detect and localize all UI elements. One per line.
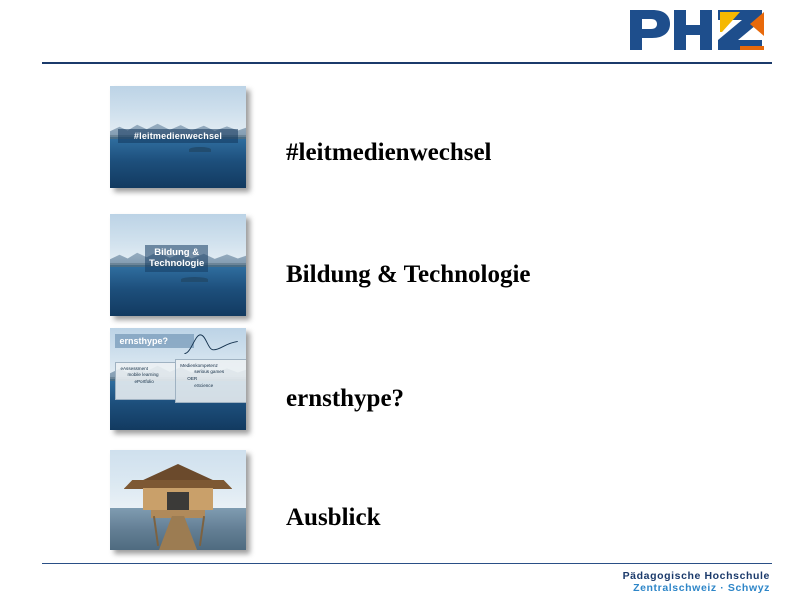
diagram-item: Medienkompetenz	[178, 363, 243, 370]
diagram-item: OER	[178, 376, 243, 383]
footer-divider	[42, 563, 772, 564]
agenda-row-bildung-technologie: Bildung & Technologie Bildung & Technolo…	[110, 214, 531, 316]
thumbnail-leitmedienwechsel: #leitmedienwechsel	[110, 86, 246, 188]
lake-water	[110, 267, 246, 316]
thumbnail-caption-line2: Technologie	[149, 258, 204, 269]
diagram-item: ePortfolio	[118, 379, 172, 386]
diagram-item: eScience	[178, 383, 243, 390]
agenda-label-ernsthype: ernsthype?	[286, 385, 404, 413]
agenda-row-leitmedienwechsel: #leitmedienwechsel #leitmedienwechsel	[110, 86, 492, 188]
thumbnail-caption: Bildung & Technologie	[145, 245, 208, 273]
agenda-label-ausblick: Ausblick	[286, 504, 380, 532]
phz-logo	[622, 6, 772, 54]
diagram-item: mobile learning	[118, 372, 172, 379]
phz-logo-svg	[622, 6, 772, 54]
thumbnail-bildung-technologie: Bildung & Technologie	[110, 214, 246, 316]
diagram-box-left: eAssessment mobile learning ePortfolio	[115, 362, 175, 401]
lake-water	[110, 139, 246, 188]
thumbnail-caption: ernsthype?	[115, 334, 194, 348]
sky	[110, 86, 246, 133]
footer: Pädagogische Hochschule Zentralschweiz ·…	[623, 570, 770, 594]
islet	[189, 147, 211, 152]
footer-region: Zentralschweiz · Schwyz	[623, 582, 770, 594]
hype-curve-icon	[183, 333, 240, 355]
diagram-box-right: Medienkompetenz serious games OER eScien…	[175, 359, 246, 404]
thumbnail-ernsthype: ernsthype? eAssessment mobile learning e…	[110, 328, 246, 430]
diagram-item: serious games	[178, 369, 243, 376]
thumbnail-caption-line1: Bildung &	[154, 247, 199, 258]
pavilion-door	[167, 492, 189, 510]
thumbnail-caption: #leitmedienwechsel	[118, 129, 238, 143]
thumbnail-ausblick	[110, 450, 246, 550]
footer-institution: Pädagogische Hochschule	[623, 570, 770, 582]
agenda-row-ernsthype: ernsthype? eAssessment mobile learning e…	[110, 328, 404, 430]
agenda-label-leitmedienwechsel: #leitmedienwechsel	[286, 139, 492, 167]
agenda-row-ausblick: Ausblick	[110, 450, 380, 550]
diagram-item: eAssessment	[118, 366, 172, 373]
islet	[181, 277, 208, 282]
agenda-label-bildung-technologie: Bildung & Technologie	[286, 261, 531, 289]
header-divider	[42, 62, 772, 64]
